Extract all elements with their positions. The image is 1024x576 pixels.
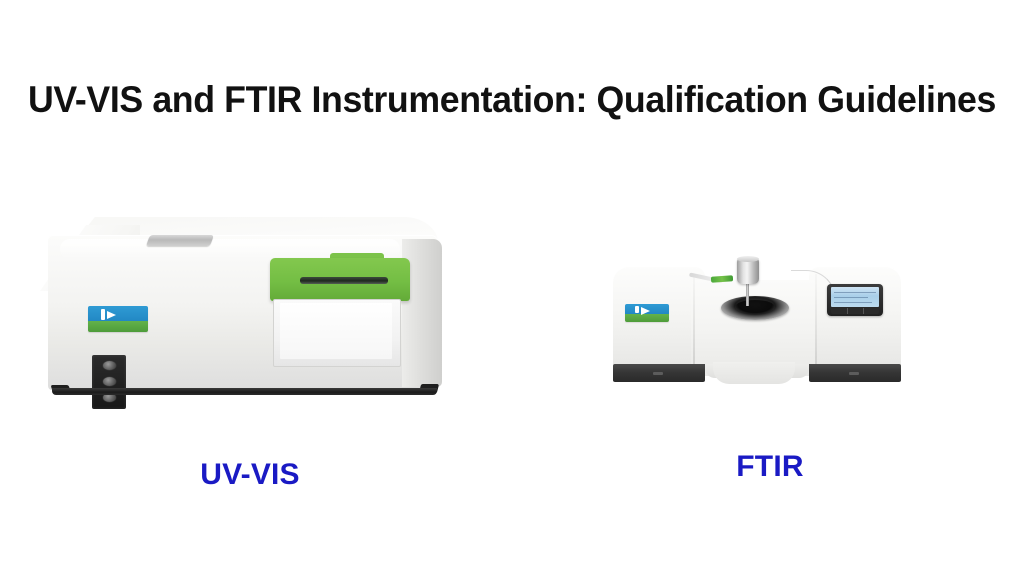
ftir-lcd-text-line: [834, 297, 868, 298]
uvvis-base-shadow: [52, 388, 437, 395]
ftir-caption: FTIR: [670, 450, 870, 484]
ftir-manufacturer-badge: [625, 304, 669, 322]
badge-green-band: [625, 314, 669, 322]
ftir-lcd-text-line: [834, 302, 872, 303]
uvvis-mode-button-icon: [103, 377, 116, 386]
page-title: UV-VIS and FTIR Instrumentation: Qualifi…: [18, 78, 1006, 122]
ftir-base-notch-right: [849, 372, 859, 375]
uvvis-vent-slot-icon: [146, 235, 214, 246]
uvvis-manufacturer-badge: [88, 306, 148, 332]
ftir-base-notch-left: [653, 372, 663, 375]
badge-logo-mark-icon: [635, 306, 650, 313]
ftir-instrument-image: [605, 252, 910, 397]
slide-canvas: UV-VIS and FTIR Instrumentation: Qualifi…: [0, 0, 1024, 576]
ftir-center-notch: [713, 362, 795, 384]
ftir-sample-stage-inner: [735, 300, 775, 314]
ftir-seam-left: [693, 274, 695, 374]
badge-green-band: [88, 321, 148, 332]
uvvis-power-button-icon: [103, 361, 116, 370]
ftir-lcd-keypad: [831, 308, 879, 314]
ftir-keypad-divider: [847, 308, 848, 314]
ftir-keypad-divider: [863, 308, 864, 314]
badge-logo-mark-icon: [101, 309, 121, 319]
ftir-lcd-text-line: [834, 292, 876, 293]
ftir-press-knob-top: [737, 256, 759, 262]
uvvis-caption: UV-VIS: [140, 458, 360, 492]
uvvis-sample-door-inner: [280, 303, 392, 359]
uvvis-instrument-image: [30, 203, 455, 408]
uvvis-lid-handle-slot: [300, 277, 388, 284]
